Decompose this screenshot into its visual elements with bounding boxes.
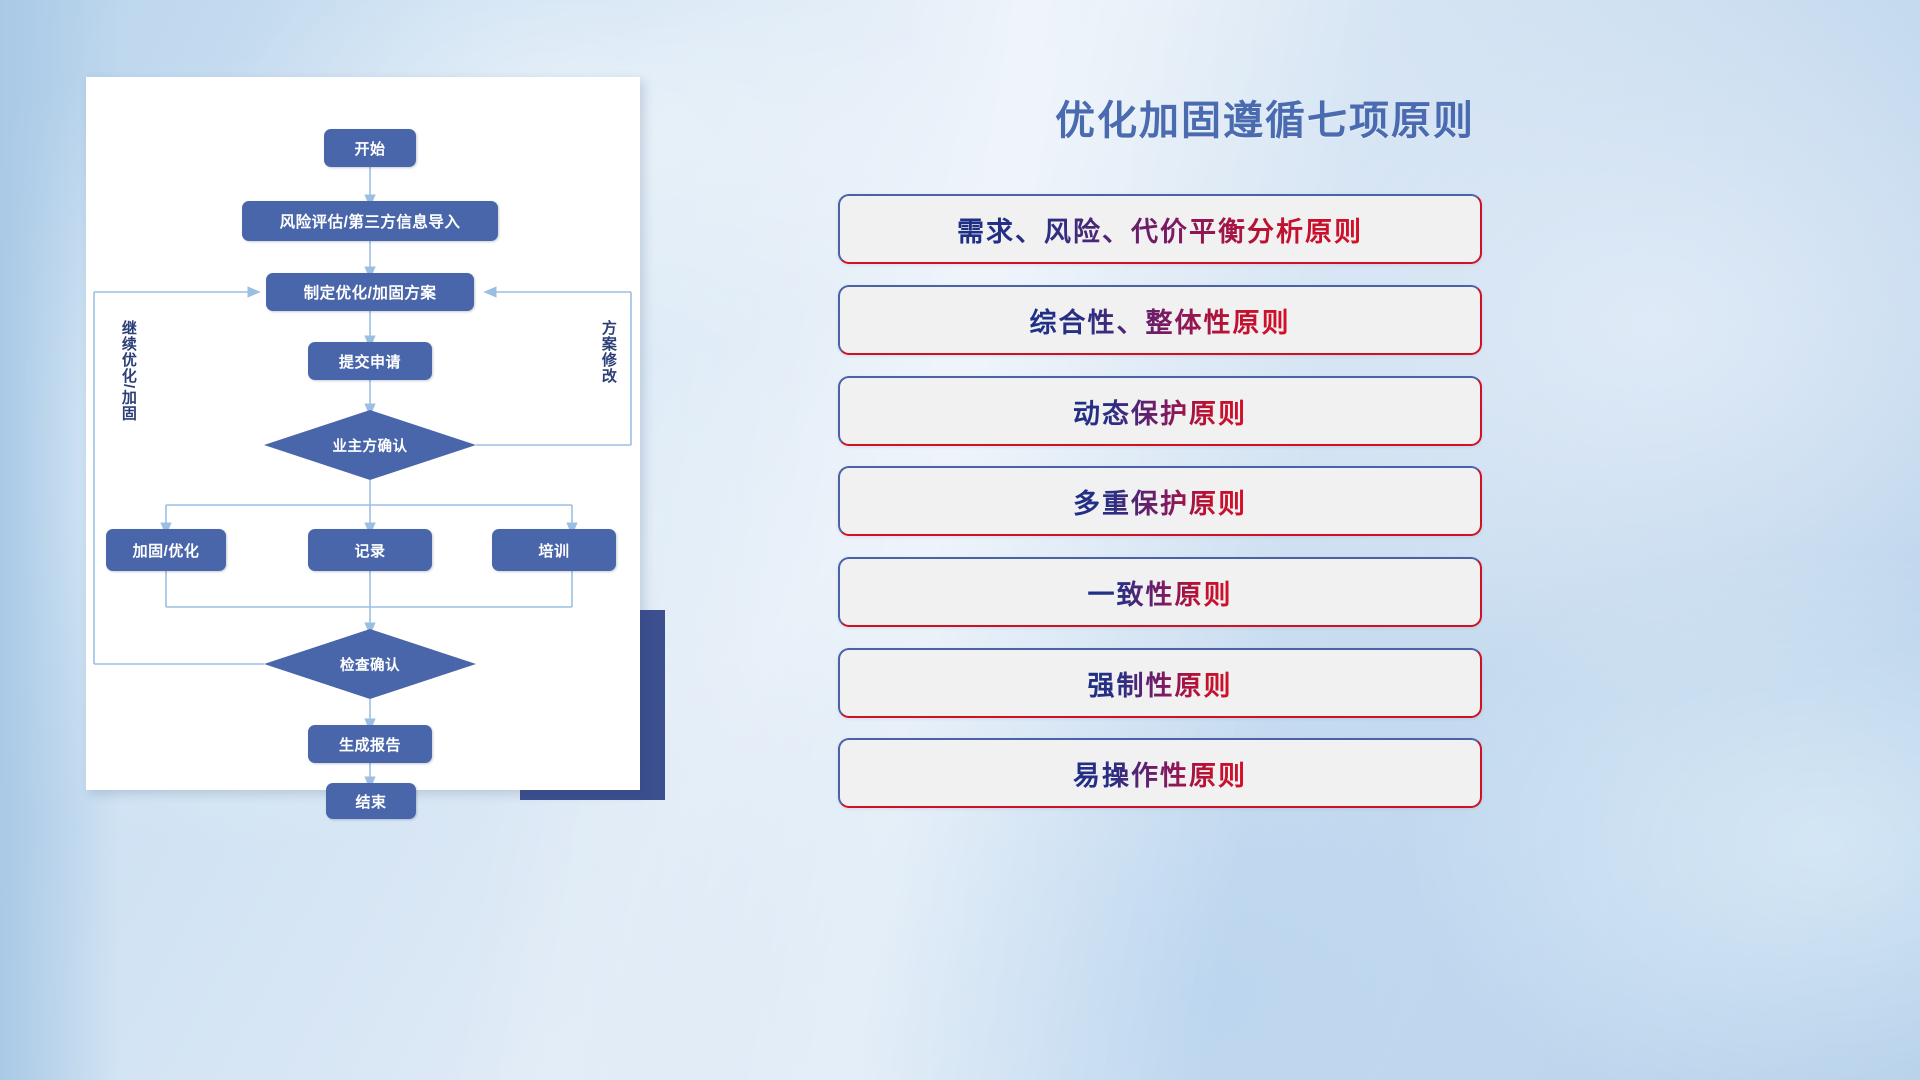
flow-node-generate-report[interactable]: 生成报告 [308,725,432,763]
flow-node-make-plan[interactable]: 制定优化/加固方案 [266,273,474,311]
principle-item-7[interactable]: 易操作性原则 [838,738,1482,808]
principle-item-1[interactable]: 需求、风险、代价平衡分析原则 [838,194,1482,264]
diamond-shape-icon [264,629,476,699]
principle-item-5-label: 一致性原则 [1088,573,1233,612]
flow-node-record[interactable]: 记录 [308,529,432,571]
principle-item-5[interactable]: 一致性原则 [838,557,1482,627]
flowchart-edge-label-right-loop: 方案修改 [600,320,616,384]
principle-item-4[interactable]: 多重保护原则 [838,466,1482,536]
flowchart-card: 继续优化/加固 方案修改 开始 风险评估/第三方信息导入 制定优化/加固方案 提… [86,77,640,790]
flow-node-owner-confirm[interactable]: 业主方确认 [264,410,476,480]
flow-node-training[interactable]: 培训 [492,529,616,571]
flowchart-diagram: 继续优化/加固 方案修改 开始 风险评估/第三方信息导入 制定优化/加固方案 提… [86,77,640,790]
flow-node-submit-application[interactable]: 提交申请 [308,342,432,380]
principle-item-3-label: 动态保护原则 [1073,392,1247,431]
principle-item-3[interactable]: 动态保护原则 [838,376,1482,446]
flow-node-end[interactable]: 结束 [326,783,416,819]
principles-title: 优化加固遵循七项原则 [945,88,1585,146]
principle-item-4-label: 多重保护原则 [1073,482,1247,521]
flowchart-edge-label-left-loop: 继续优化/加固 [120,320,136,421]
flow-node-risk-assessment[interactable]: 风险评估/第三方信息导入 [242,201,498,241]
flow-node-start[interactable]: 开始 [324,129,416,167]
flow-node-reinforce-optimize[interactable]: 加固/优化 [106,529,226,571]
principle-item-7-label: 易操作性原则 [1073,754,1247,793]
principle-item-6[interactable]: 强制性原则 [838,648,1482,718]
principle-item-2[interactable]: 综合性、整体性原则 [838,285,1482,355]
principles-pane: 优化加固遵循七项原则 需求、风险、代价平衡分析原则 综合性、整体性原则 动态保护… [830,0,1920,1080]
principle-item-6-label: 强制性原则 [1088,664,1233,703]
principle-item-2-label: 综合性、整体性原则 [1030,301,1291,340]
diamond-shape-icon [264,410,476,480]
flow-node-inspection-confirm[interactable]: 检查确认 [264,629,476,699]
principle-item-1-label: 需求、风险、代价平衡分析原则 [957,210,1363,249]
